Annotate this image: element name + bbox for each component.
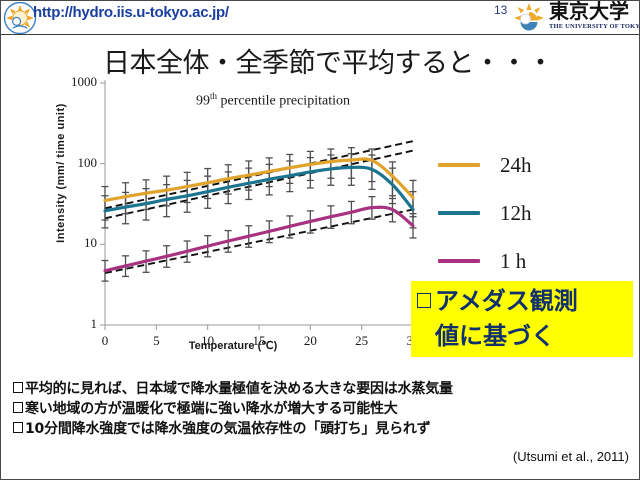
square-bullet-icon [13, 422, 23, 433]
university-name-jp: 東京大学 [549, 1, 640, 22]
callout-line-1: アメダス観測 [417, 284, 633, 319]
slide-canvas: http://hydro.iis.u-tokyo.ac.jp/ 13 東京大学 … [0, 0, 640, 480]
callout-line-2: 値に基づく [417, 319, 633, 354]
bullet-text: 寒い地域の方が温暖化で極端に強い降水が増大する可能性大 [25, 401, 398, 417]
chart-title-superscript: th [210, 91, 217, 101]
chart-title-main: 99 [196, 94, 210, 109]
bullet-text: 平均的に見れば、日本域で降水量極値を決める大きな要因は水蒸気量 [25, 381, 453, 397]
slide-header: http://hydro.iis.u-tokyo.ac.jp/ 13 東京大学 … [1, 1, 640, 35]
chart-title-rest: percentile precipitation [217, 94, 350, 109]
university-name-en: THE UNIVERSITY OF TOKYO [549, 23, 640, 30]
square-bullet-icon [13, 402, 23, 413]
series-line-1h [105, 207, 413, 271]
legend-label: 1 h [500, 249, 526, 274]
chart-plot-area [45, 67, 425, 367]
bullet-item: 10分間降水強度では降水強度の気温依存性の「頭打ち」見られず [13, 419, 635, 439]
y-ticks [100, 83, 105, 325]
chart-legend: 24h12h1 h [438, 141, 578, 285]
precipitation-chart: 99th percentile precipitation Intensity … [45, 67, 425, 367]
bullet-item: 平均的に見れば、日本域で降水量極値を決める大きな要因は水蒸気量 [13, 379, 635, 399]
x-tick-label: 25 [347, 333, 377, 349]
x-tick-label: 10 [193, 333, 223, 349]
x-axis-label: Temperature (℃) [83, 339, 383, 352]
y-tick-label: 1 [55, 316, 97, 332]
legend-label: 24h [500, 153, 532, 178]
university-logo-text: 東京大学 THE UNIVERSITY OF TOKYO [549, 1, 640, 30]
legend-swatch-icon [438, 259, 480, 263]
citation: (Utsumi et al., 2011) [1, 449, 629, 464]
header-divider [1, 34, 640, 35]
y-tick-label: 100 [55, 155, 97, 171]
x-tick-label: 5 [141, 333, 171, 349]
callout-text-1: アメダス観測 [435, 287, 578, 315]
legend-label: 12h [500, 201, 532, 226]
header-url-text: http://hydro.iis.u-tokyo.ac.jp/ [33, 4, 229, 21]
university-of-tokyo-logo-icon [513, 2, 545, 33]
x-tick-label: 15 [244, 333, 274, 349]
legend-item-24h[interactable]: 24h [438, 141, 578, 189]
legend-item-12h[interactable]: 12h [438, 189, 578, 237]
x-ticks [105, 325, 413, 330]
bullet-item: 寒い地域の方が温暖化で極端に強い降水が増大する可能性大 [13, 399, 635, 419]
bullet-list: 平均的に見れば、日本域で降水量極値を決める大きな要因は水蒸気量寒い地域の方が温暖… [13, 379, 635, 439]
legend-swatch-icon [438, 163, 480, 167]
legend-swatch-icon [438, 211, 480, 215]
callout-text-2: 値に基づく [435, 322, 555, 350]
square-bullet-icon [417, 293, 431, 308]
x-tick-label: 20 [295, 333, 325, 349]
data-series [105, 159, 413, 271]
y-tick-label: 1000 [55, 74, 97, 90]
hydro-lab-logo-icon [3, 2, 37, 34]
chart-title: 99th percentile precipitation [123, 91, 423, 110]
square-bullet-icon [13, 382, 23, 393]
legend-item-1h[interactable]: 1 h [438, 237, 578, 285]
page-number: 13 [494, 3, 507, 17]
y-tick-label: 10 [55, 235, 97, 251]
bullet-text: 10分間降水強度では降水強度の気温依存性の「頭打ち」見られず [25, 421, 430, 437]
callout-box: アメダス観測 値に基づく [411, 281, 633, 357]
x-tick-label: 0 [90, 333, 120, 349]
